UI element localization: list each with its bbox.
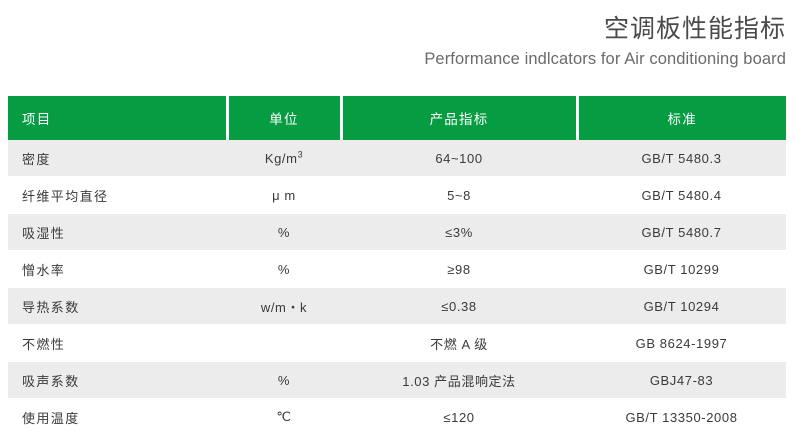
column-header-index: 产品指标 <box>341 96 577 140</box>
table-header: 项目 单位 产品指标 标准 <box>8 96 786 140</box>
cell-item: 憎水率 <box>8 251 227 288</box>
table-header-row: 项目 单位 产品指标 标准 <box>8 96 786 140</box>
table-row: 使用温度℃≤120GB/T 13350-2008 <box>8 399 786 436</box>
cell-unit: ℃ <box>227 399 341 436</box>
cell-unit: % <box>227 362 341 399</box>
table-row: 吸湿性%≤3%GB/T 5480.7 <box>8 214 786 251</box>
cell-standard: GB/T 5480.7 <box>577 214 786 251</box>
column-header-item: 项目 <box>8 96 227 140</box>
cell-item: 使用温度 <box>8 399 227 436</box>
table-row: 纤维平均直径μ m5~8GB/T 5480.4 <box>8 177 786 214</box>
cell-item: 密度 <box>8 140 227 177</box>
cell-standard: GB/T 5480.4 <box>577 177 786 214</box>
cell-product-index: 5~8 <box>341 177 577 214</box>
table-row: 不燃性不燃 A 级GB 8624-1997 <box>8 325 786 362</box>
cell-unit: % <box>227 251 341 288</box>
page-subtitle: Performance indlcators for Air condition… <box>0 44 786 69</box>
cell-standard: GB 8624-1997 <box>577 325 786 362</box>
cell-standard: GB/T 13350-2008 <box>577 399 786 436</box>
cell-unit: w/m・k <box>227 288 341 325</box>
spec-sheet-page: 空调板性能指标 Performance indlcators for Air c… <box>0 0 794 435</box>
table-row: 导热系数w/m・k≤0.38GB/T 10294 <box>8 288 786 325</box>
table-row: 吸声系数%1.03 产品混响定法GBJ47-83 <box>8 362 786 399</box>
cell-product-index: ≤3% <box>341 214 577 251</box>
cell-standard: GB/T 5480.3 <box>577 140 786 177</box>
cell-standard: GB/T 10299 <box>577 251 786 288</box>
page-title: 空调板性能指标 <box>0 0 786 44</box>
performance-specification-table: 项目 单位 产品指标 标准 密度Kg/m364~100GB/T 5480.3纤维… <box>8 96 786 436</box>
page-title-block: 空调板性能指标 Performance indlcators for Air c… <box>0 0 794 96</box>
column-header-std: 标准 <box>577 96 786 140</box>
table-body: 密度Kg/m364~100GB/T 5480.3纤维平均直径μ m5~8GB/T… <box>8 140 786 436</box>
cell-standard: GB/T 10294 <box>577 288 786 325</box>
column-header-unit: 单位 <box>227 96 341 140</box>
cell-standard: GBJ47-83 <box>577 362 786 399</box>
cell-unit: Kg/m3 <box>227 140 341 177</box>
cell-product-index: ≥98 <box>341 251 577 288</box>
cell-unit-exponent: 3 <box>298 149 304 159</box>
cell-product-index: 64~100 <box>341 140 577 177</box>
table-row: 憎水率%≥98GB/T 10299 <box>8 251 786 288</box>
cell-item: 吸声系数 <box>8 362 227 399</box>
cell-unit: % <box>227 214 341 251</box>
cell-item: 不燃性 <box>8 325 227 362</box>
cell-item: 吸湿性 <box>8 214 227 251</box>
cell-product-index: ≤120 <box>341 399 577 436</box>
cell-product-index: 不燃 A 级 <box>341 325 577 362</box>
cell-unit: μ m <box>227 177 341 214</box>
cell-item: 导热系数 <box>8 288 227 325</box>
cell-unit <box>227 325 341 362</box>
table-row: 密度Kg/m364~100GB/T 5480.3 <box>8 140 786 177</box>
cell-product-index: 1.03 产品混响定法 <box>341 362 577 399</box>
cell-product-index: ≤0.38 <box>341 288 577 325</box>
cell-item: 纤维平均直径 <box>8 177 227 214</box>
